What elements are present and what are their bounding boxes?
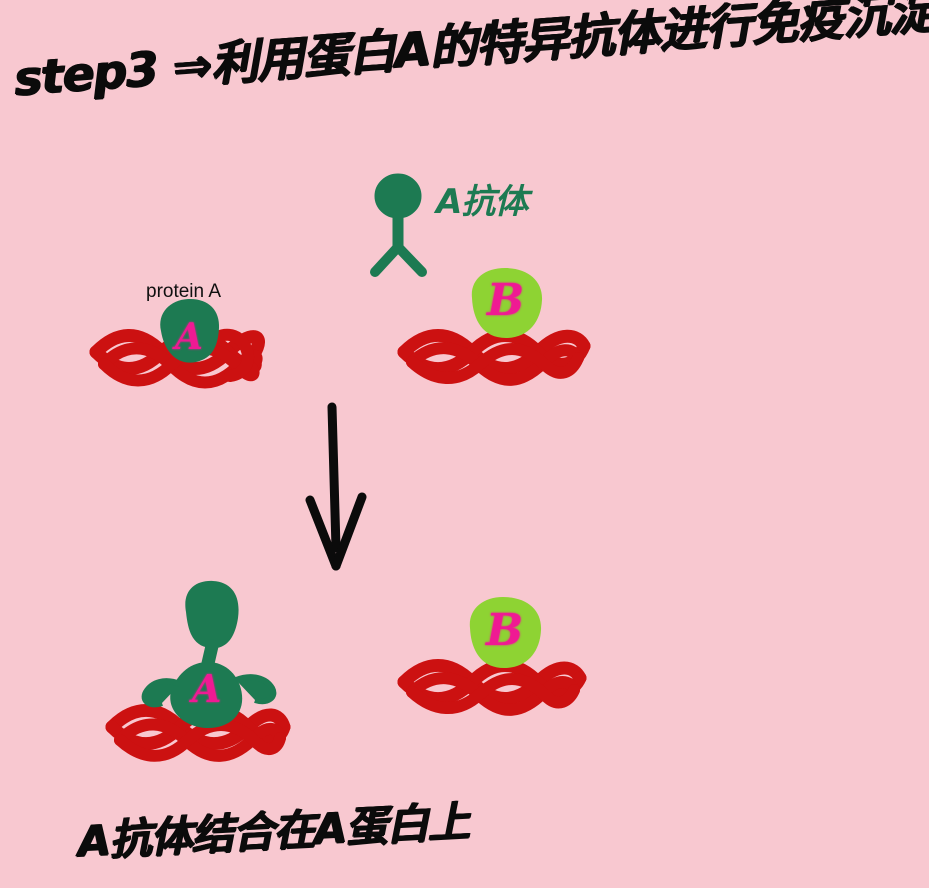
dna-strand-bottom-right bbox=[404, 666, 580, 710]
antibody-label: A抗体 bbox=[436, 174, 527, 223]
antibody-head-bound bbox=[185, 581, 238, 648]
protein-b-letter-top: B bbox=[487, 275, 524, 326]
bottom-caption: A抗体结合在A蛋白上 bbox=[76, 788, 470, 869]
protein-a-label: protein A bbox=[146, 281, 221, 303]
dna-strand-bottom-left bbox=[112, 711, 284, 756]
antibody-arm-left-bound bbox=[145, 681, 180, 704]
drawing-layer bbox=[0, 0, 929, 888]
page-title: step3 ⇒利用蛋白A的特异抗体进行免疫沉淀 bbox=[11, 0, 929, 109]
protein-a-letter-bottom: A bbox=[192, 666, 221, 711]
antibody-arm-left bbox=[375, 247, 398, 272]
protein-a-letter-top: A bbox=[175, 316, 203, 358]
protein-b-letter-bottom: B bbox=[486, 605, 523, 656]
dna-strand-top-right bbox=[404, 336, 584, 380]
antibody-arm-right bbox=[398, 247, 422, 272]
antibody-head bbox=[375, 174, 421, 218]
free-antibody-icon bbox=[375, 174, 422, 272]
antibody-arm-right-bound bbox=[236, 677, 273, 701]
hand-drawn-diagram-canvas: step3 ⇒利用蛋白A的特异抗体进行免疫沉淀 protein A A抗体 A … bbox=[0, 0, 929, 888]
down-arrow-icon bbox=[310, 407, 362, 566]
